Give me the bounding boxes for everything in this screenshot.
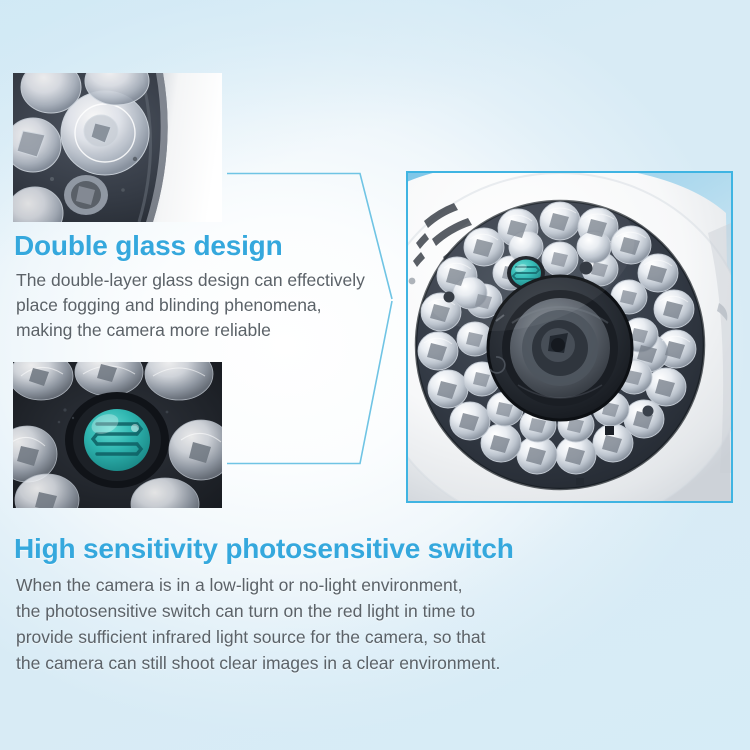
ir-led-closeup-artwork (13, 73, 222, 222)
feature-2-body-line: the camera can still shoot clear images … (16, 650, 576, 676)
camera-front-artwork (408, 173, 731, 501)
feature-2-body-line: provide sufficient infrared light source… (16, 624, 576, 650)
feature-1-body-line: place fogging and blinding phenomena, (16, 293, 416, 318)
feature-1-body-line: The double-layer glass design can effect… (16, 268, 416, 293)
infographic-page: Double glass design The double-layer gla… (0, 0, 750, 750)
feature-1-body-line: making the camera more reliable (16, 318, 416, 343)
feature-1-heading: Double glass design (14, 230, 282, 262)
feature-2-body-line: When the camera is in a low-light or no-… (16, 572, 576, 598)
feature-2-body: When the camera is in a low-light or no-… (16, 572, 576, 676)
feature-2-body-line: the photosensitive switch can turn on th… (16, 598, 576, 624)
photoresistor-closeup-photo (13, 362, 222, 508)
ir-led-closeup-photo (13, 73, 222, 222)
photoresistor-closeup-artwork (13, 362, 222, 508)
camera-front-photo (406, 171, 733, 503)
feature-2-heading: High sensitivity photosensitive switch (14, 533, 514, 565)
feature-1-body: The double-layer glass design can effect… (16, 268, 416, 343)
